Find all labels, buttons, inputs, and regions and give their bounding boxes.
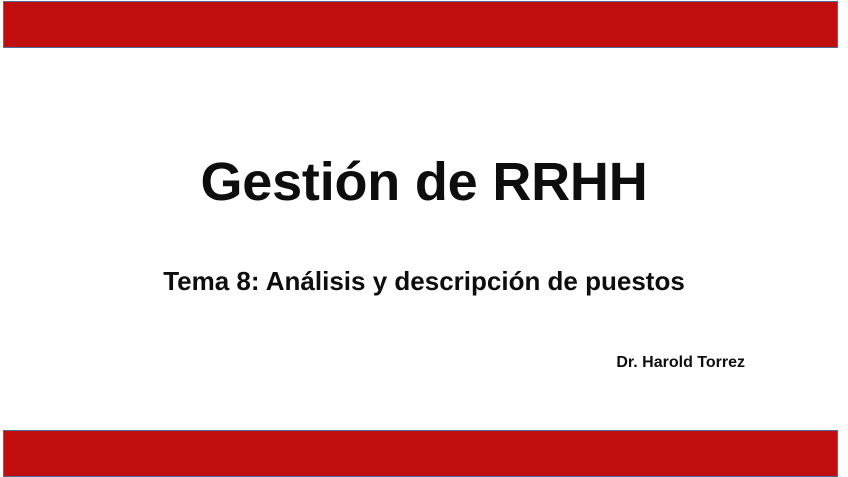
title-slide: Gestión de RRHH Tema 8: Análisis y descr… xyxy=(0,0,848,477)
bottom-red-banner xyxy=(3,430,838,477)
slide-author: Dr. Harold Torrez xyxy=(0,353,848,372)
slide-subtitle: Tema 8: Análisis y descripción de puesto… xyxy=(0,266,848,297)
slide-title: Gestión de RRHH xyxy=(0,152,848,212)
slide-content: Gestión de RRHH Tema 8: Análisis y descr… xyxy=(0,0,848,477)
